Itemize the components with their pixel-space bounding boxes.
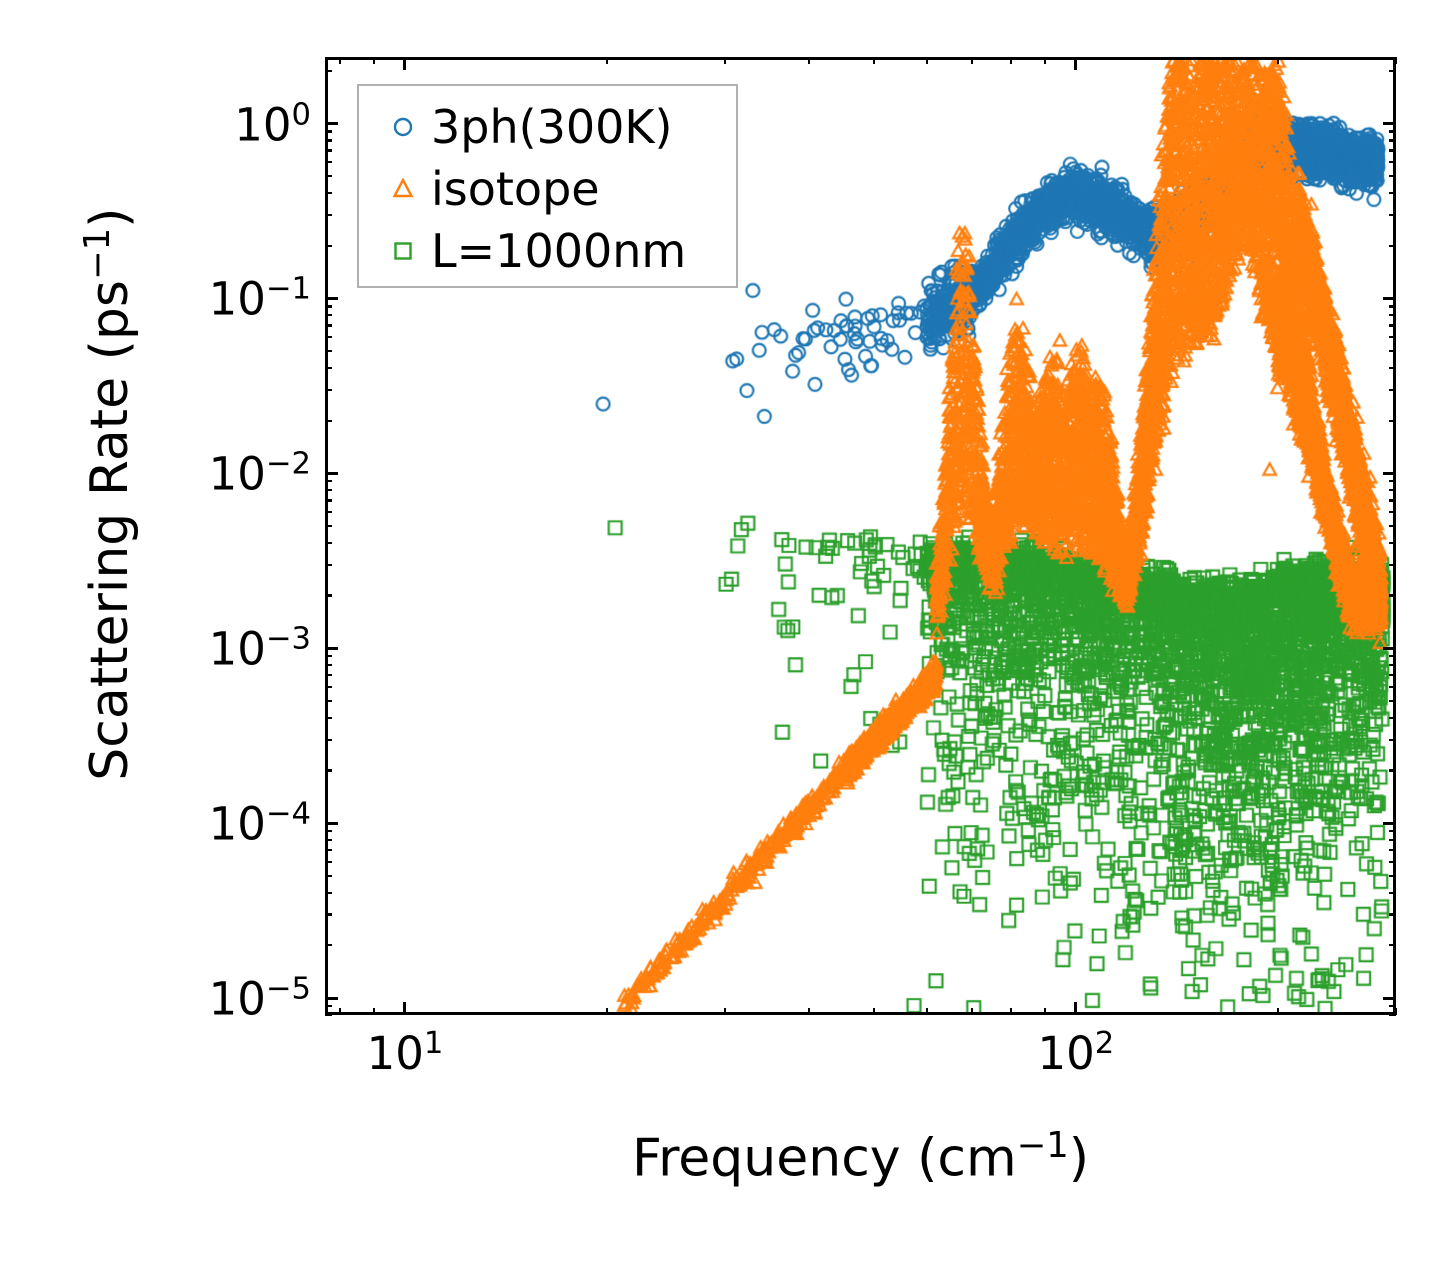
y-minor-tick bbox=[325, 367, 332, 369]
y-minor-tick-right bbox=[1389, 525, 1396, 527]
legend-item-boundary: L=1000nm bbox=[359, 220, 736, 282]
x-axis-label: Frequency (cm−1) bbox=[325, 1128, 1396, 1184]
y-minor-tick-right bbox=[1389, 664, 1396, 666]
legend-item-3ph: 3ph(300K) bbox=[359, 96, 736, 158]
x-axis-label-base: Frequency (cm bbox=[632, 1128, 1017, 1188]
x-tick-label-0: 101 bbox=[367, 1029, 444, 1076]
x-minor-tick bbox=[1044, 1008, 1046, 1015]
y-minor-tick bbox=[325, 1005, 332, 1007]
y-minor-tick bbox=[325, 1014, 332, 1016]
x-major-tick bbox=[1074, 1002, 1077, 1015]
y-minor-tick bbox=[325, 336, 332, 338]
y-axis-label: Scattering Rate (ps−1) bbox=[80, 14, 136, 974]
y-minor-tick bbox=[325, 499, 332, 501]
chart-legend: 3ph(300K) isotope L=1000nm bbox=[357, 84, 738, 288]
x-minor-tick bbox=[971, 1008, 973, 1015]
x-minor-tick-top bbox=[606, 57, 608, 64]
y-minor-tick bbox=[325, 861, 332, 863]
x-minor-tick bbox=[1010, 1008, 1012, 1015]
y-minor-tick bbox=[325, 769, 332, 771]
y-minor-tick-right bbox=[1389, 139, 1396, 141]
x-minor-tick-top bbox=[1010, 57, 1012, 64]
y-major-tick-right bbox=[1383, 647, 1396, 650]
y-minor-tick bbox=[325, 305, 332, 307]
y-minor-tick bbox=[325, 130, 332, 132]
y-minor-tick bbox=[325, 324, 332, 326]
y-minor-tick bbox=[325, 489, 332, 491]
x-minor-tick bbox=[873, 1008, 875, 1015]
x-minor-tick bbox=[926, 1008, 928, 1015]
y-minor-tick-right bbox=[1389, 214, 1396, 216]
x-minor-tick-top bbox=[373, 57, 375, 64]
legend-label-boundary: L=1000nm bbox=[431, 228, 686, 274]
y-axis-label-exponent: −1 bbox=[77, 228, 118, 280]
y-minor-tick bbox=[325, 594, 332, 596]
y-minor-tick-right bbox=[1389, 542, 1396, 544]
x-minor-tick-top bbox=[873, 57, 875, 64]
y-axis-label-base: Scattering Rate (ps bbox=[80, 280, 140, 781]
y-major-tick bbox=[325, 122, 338, 125]
y-minor-tick-right bbox=[1389, 655, 1396, 657]
y-minor-tick-right bbox=[1389, 305, 1396, 307]
x-minor-tick-top bbox=[971, 57, 973, 64]
y-minor-tick-right bbox=[1389, 350, 1396, 352]
x-minor-tick-top bbox=[724, 57, 726, 64]
legend-circle-marker-icon bbox=[375, 114, 431, 140]
x-major-tick bbox=[403, 1002, 406, 1015]
y-minor-tick bbox=[325, 830, 332, 832]
y-tick-label-4: 10−4 bbox=[209, 800, 311, 847]
y-minor-tick bbox=[325, 139, 332, 141]
y-minor-tick-right bbox=[1389, 314, 1396, 316]
y-axis-label-tail: ) bbox=[80, 208, 140, 228]
y-minor-tick bbox=[325, 70, 332, 72]
y-minor-tick bbox=[325, 511, 332, 513]
y-tick-label-5: 10−5 bbox=[209, 975, 311, 1022]
y-minor-tick-right bbox=[1389, 420, 1396, 422]
y-minor-tick-right bbox=[1389, 324, 1396, 326]
legend-label-isotope: isotope bbox=[431, 166, 600, 212]
x-minor-tick-top bbox=[1044, 57, 1046, 64]
x-minor-tick-top bbox=[339, 57, 341, 64]
x-axis-label-exponent: −1 bbox=[1017, 1125, 1069, 1166]
x-tick-label-1: 102 bbox=[1038, 1029, 1115, 1076]
y-minor-tick-right bbox=[1389, 130, 1396, 132]
y-tick-label-3: 10−3 bbox=[209, 625, 311, 672]
y-major-tick-right bbox=[1383, 472, 1396, 475]
y-minor-tick-right bbox=[1389, 861, 1396, 863]
x-minor-tick bbox=[808, 1008, 810, 1015]
y-minor-tick bbox=[325, 655, 332, 657]
y-major-tick bbox=[325, 822, 338, 825]
y-minor-tick-right bbox=[1389, 769, 1396, 771]
y-minor-tick bbox=[325, 700, 332, 702]
legend-triangle-marker-icon bbox=[375, 176, 431, 202]
y-minor-tick-right bbox=[1389, 564, 1396, 566]
y-tick-label-2: 10−2 bbox=[209, 450, 311, 497]
y-minor-tick-right bbox=[1389, 367, 1396, 369]
y-minor-tick-right bbox=[1389, 489, 1396, 491]
y-minor-tick bbox=[325, 350, 332, 352]
y-minor-tick bbox=[325, 849, 332, 851]
y-major-tick-right bbox=[1383, 122, 1396, 125]
y-minor-tick-right bbox=[1389, 830, 1396, 832]
y-minor-tick bbox=[325, 389, 332, 391]
y-tick-label-0: 100 bbox=[234, 100, 311, 147]
y-minor-tick-right bbox=[1389, 739, 1396, 741]
y-major-tick bbox=[325, 297, 338, 300]
scatter-plot-figure: 10110210010−110−210−310−410−5 Frequency … bbox=[0, 0, 1455, 1265]
y-major-tick bbox=[325, 997, 338, 1000]
y-minor-tick bbox=[325, 839, 332, 841]
y-minor-tick bbox=[325, 674, 332, 676]
y-minor-tick-right bbox=[1389, 245, 1396, 247]
y-minor-tick bbox=[325, 944, 332, 946]
x-minor-tick bbox=[373, 1008, 375, 1015]
y-minor-tick bbox=[325, 664, 332, 666]
y-minor-tick-right bbox=[1389, 499, 1396, 501]
y-minor-tick-right bbox=[1389, 875, 1396, 877]
x-major-tick-top bbox=[403, 57, 406, 70]
y-minor-tick-right bbox=[1389, 849, 1396, 851]
x-minor-tick bbox=[339, 1008, 341, 1015]
x-minor-tick-top bbox=[1277, 57, 1279, 64]
y-minor-tick bbox=[325, 892, 332, 894]
y-minor-tick-right bbox=[1389, 480, 1396, 482]
legend-label-3ph: 3ph(300K) bbox=[431, 104, 672, 150]
legend-item-isotope: isotope bbox=[359, 158, 736, 220]
y-minor-tick bbox=[325, 214, 332, 216]
y-minor-tick-right bbox=[1389, 839, 1396, 841]
y-major-tick bbox=[325, 647, 338, 650]
y-minor-tick-right bbox=[1389, 717, 1396, 719]
x-major-tick-top bbox=[1074, 57, 1077, 70]
y-minor-tick-right bbox=[1389, 686, 1396, 688]
x-axis-label-tail: ) bbox=[1069, 1128, 1089, 1188]
y-minor-tick-right bbox=[1389, 192, 1396, 194]
y-major-tick-right bbox=[1383, 297, 1396, 300]
y-minor-tick-right bbox=[1389, 944, 1396, 946]
y-minor-tick bbox=[325, 420, 332, 422]
y-minor-tick-right bbox=[1389, 389, 1396, 391]
legend-square-marker-icon bbox=[375, 238, 431, 264]
y-minor-tick bbox=[325, 192, 332, 194]
y-major-tick bbox=[325, 472, 338, 475]
y-minor-tick bbox=[325, 739, 332, 741]
y-minor-tick-right bbox=[1389, 336, 1396, 338]
y-minor-tick bbox=[325, 564, 332, 566]
x-minor-tick bbox=[1277, 1008, 1279, 1015]
x-minor-tick-top bbox=[926, 57, 928, 64]
y-minor-tick bbox=[325, 175, 332, 177]
y-minor-tick bbox=[325, 542, 332, 544]
y-tick-label-1: 10−1 bbox=[209, 275, 311, 322]
x-minor-tick bbox=[724, 1008, 726, 1015]
y-minor-tick-right bbox=[1389, 149, 1396, 151]
y-minor-tick bbox=[325, 161, 332, 163]
y-minor-tick bbox=[325, 149, 332, 151]
y-minor-tick-right bbox=[1389, 175, 1396, 177]
y-minor-tick-right bbox=[1389, 1014, 1396, 1016]
y-major-tick-right bbox=[1383, 822, 1396, 825]
x-minor-tick-top bbox=[1395, 57, 1397, 64]
y-minor-tick-right bbox=[1389, 161, 1396, 163]
y-minor-tick-right bbox=[1389, 674, 1396, 676]
y-minor-tick-right bbox=[1389, 1005, 1396, 1007]
y-minor-tick bbox=[325, 314, 332, 316]
y-minor-tick bbox=[325, 480, 332, 482]
y-major-tick-right bbox=[1383, 997, 1396, 1000]
y-minor-tick bbox=[325, 245, 332, 247]
y-minor-tick-right bbox=[1389, 594, 1396, 596]
y-minor-tick-right bbox=[1389, 700, 1396, 702]
y-minor-tick-right bbox=[1389, 913, 1396, 915]
y-minor-tick bbox=[325, 913, 332, 915]
y-minor-tick bbox=[325, 525, 332, 527]
y-minor-tick-right bbox=[1389, 892, 1396, 894]
y-minor-tick bbox=[325, 717, 332, 719]
x-minor-tick-top bbox=[808, 57, 810, 64]
y-minor-tick bbox=[325, 875, 332, 877]
y-minor-tick-right bbox=[1389, 70, 1396, 72]
x-minor-tick bbox=[606, 1008, 608, 1015]
y-minor-tick bbox=[325, 686, 332, 688]
y-minor-tick-right bbox=[1389, 511, 1396, 513]
